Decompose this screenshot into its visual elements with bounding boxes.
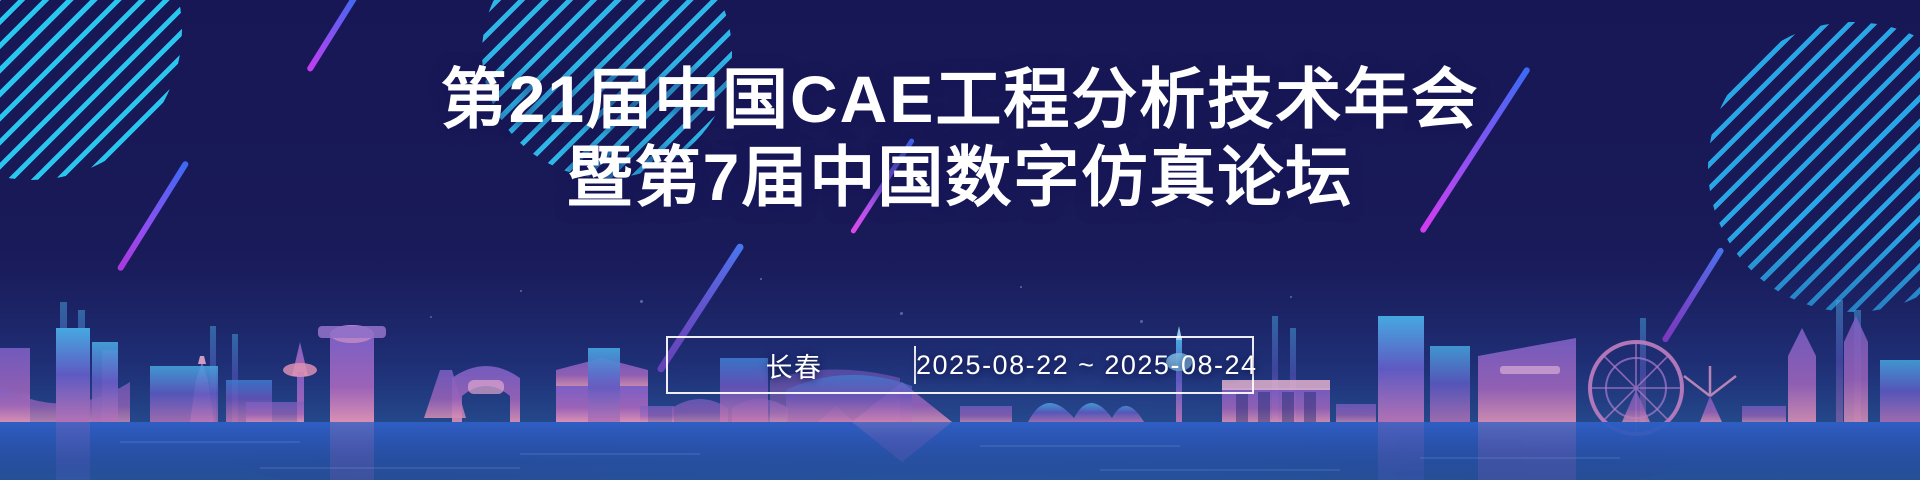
page-title-line-2: 暨第7届中国数字仿真论坛 — [0, 138, 1920, 216]
event-location: 长春 — [674, 346, 914, 385]
event-info-bar: 长春 2025-08-22 ~ 2025-08-24 — [666, 336, 1254, 394]
conference-banner: 第21届中国CAE工程分析技术年会 暨第7届中国数字仿真论坛 长春 2025-0… — [0, 0, 1920, 480]
banner-title-block: 第21届中国CAE工程分析技术年会 暨第7届中国数字仿真论坛 — [0, 60, 1920, 216]
event-date-range: 2025-08-22 ~ 2025-08-24 — [916, 350, 1246, 381]
page-title-line-1: 第21届中国CAE工程分析技术年会 — [0, 60, 1920, 138]
water-reflection — [0, 422, 1920, 480]
